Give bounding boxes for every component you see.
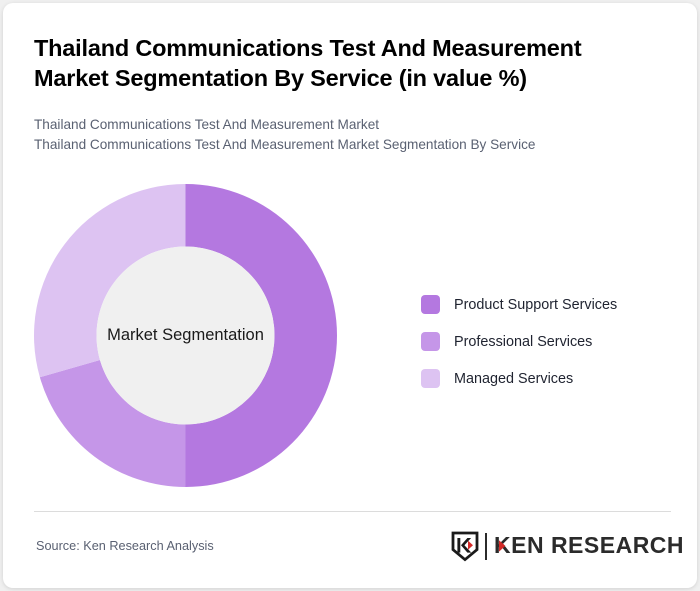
legend-swatch-icon <box>421 332 440 351</box>
title-line-1: Thailand Communications Test And Measure… <box>34 33 634 63</box>
donut-hole <box>97 247 275 425</box>
page-title: Thailand Communications Test And Measure… <box>34 33 634 93</box>
footer-divider <box>34 511 671 512</box>
logo-wordmark: KEN RESEARCH <box>494 533 691 559</box>
logo-divider <box>485 533 487 560</box>
legend-item-professional-services[interactable]: Professional Services <box>421 323 671 360</box>
source-note: Source: Ken Research Analysis <box>36 539 214 553</box>
svg-text:KEN RESEARCH: KEN RESEARCH <box>494 533 684 558</box>
title-line-2: Market Segmentation By Service (in value… <box>34 63 634 93</box>
subtitle-line-1: Thailand Communications Test And Measure… <box>34 115 654 135</box>
chart-subtitle: Thailand Communications Test And Measure… <box>34 115 654 155</box>
legend-item-managed-services[interactable]: Managed Services <box>421 360 671 397</box>
legend-item-label: Product Support Services <box>454 297 617 313</box>
ken-research-logo: KEN RESEARCH <box>450 527 691 565</box>
legend-item-label: Managed Services <box>454 371 573 387</box>
chart-legend: Product Support Services Professional Se… <box>421 286 671 397</box>
legend-item-product-support-services[interactable]: Product Support Services <box>421 286 671 323</box>
legend-swatch-icon <box>421 369 440 388</box>
legend-item-label: Professional Services <box>454 334 592 350</box>
legend-swatch-icon <box>421 295 440 314</box>
logo-wordmark-text: KEN RESEARCH <box>494 533 691 559</box>
donut-chart-svg <box>34 184 337 487</box>
subtitle-line-2: Thailand Communications Test And Measure… <box>34 135 654 155</box>
donut-chart: Market Segmentation <box>34 184 337 487</box>
chart-card: Thailand Communications Test And Measure… <box>3 3 697 588</box>
shield-k-icon <box>450 530 480 563</box>
